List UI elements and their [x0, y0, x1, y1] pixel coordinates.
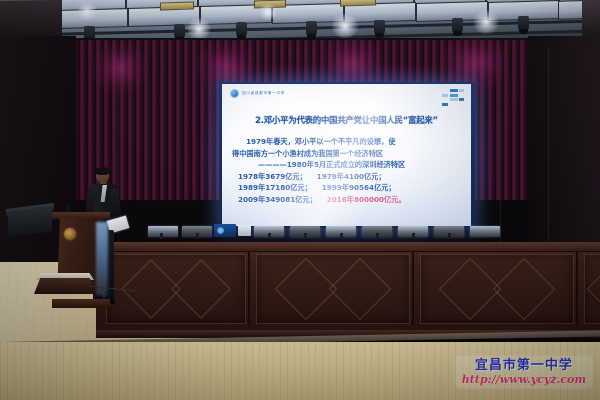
school-logo-icon	[230, 89, 239, 98]
slide-logo-text: 四川省成都市第一中学	[242, 91, 285, 96]
watermark-school: 宜昌市第一中学	[462, 358, 586, 373]
auditorium-photo: 四川省成都市第一中学 2.邓小平为代表的中国共产党让中国人民“富起来” 1979…	[0, 0, 600, 400]
equipment-panel	[238, 225, 251, 236]
podium-reading-light	[96, 222, 108, 296]
slide-data-left: 2009年349081亿元；	[238, 194, 317, 206]
watermark-url: http://www.ycyz.com	[462, 373, 586, 386]
projection-screen: 四川省成都市第一中学 2.邓小平为代表的中国共产党让中国人民“富起来” 1979…	[222, 84, 471, 226]
slide-data-right: 1979年4100亿元；	[317, 171, 386, 183]
slide-data-right-highlight: 2016年800000亿元。	[327, 194, 406, 206]
slide-title: 2.邓小平为代表的中国共产党让中国人民“富起来”	[222, 114, 471, 126]
slide-body-line: 1979年春天，邓小平以一个不平凡的设想，使	[232, 136, 461, 148]
stage-spotlight	[452, 18, 463, 33]
ceiling-light-fixture	[160, 1, 194, 10]
stage-front-panels	[96, 242, 600, 338]
stage-spotlight	[374, 20, 385, 35]
equipment-monitor	[214, 224, 236, 237]
stage-spotlight	[236, 22, 247, 37]
wood-panel	[420, 254, 574, 324]
floor-equipment	[34, 278, 96, 294]
slide-school-logo: 四川省成都市第一中学	[230, 89, 285, 98]
slide-body: 1979年春天，邓小平以一个不平凡的设想，使 得中国南方一个小渔村成为我国第一个…	[232, 136, 461, 205]
presenter-hair	[95, 167, 110, 175]
wood-panel	[584, 254, 600, 324]
right-side-wall	[528, 36, 600, 266]
side-table	[8, 208, 52, 237]
slide-corner-decoration	[442, 89, 464, 106]
ceiling-light-fixture	[254, 0, 286, 9]
stage-spotlight	[306, 21, 317, 36]
slide-data-row: 1989年17180亿元； 1999年90564亿元；	[232, 182, 461, 194]
slide-data-left: 1978年3679亿元；	[238, 171, 307, 183]
slide-data-right: 1999年90564亿元；	[322, 182, 396, 194]
stage-spotlight	[174, 24, 185, 39]
slide-data-row: 1978年3679亿元； 1979年4100亿元；	[232, 171, 461, 183]
slide-data-left: 1989年17180亿元；	[238, 182, 312, 194]
front-seat-row	[148, 226, 508, 239]
stage-spotlight	[518, 16, 529, 31]
slide-data-row: 2009年349081亿元； 2016年800000亿元。	[232, 194, 461, 206]
wood-panel	[256, 254, 410, 324]
school-emblem-icon	[64, 228, 76, 240]
slide-body-line: 得中国南方一个小渔村成为我国第一个经济特区	[232, 148, 461, 160]
watermark: 宜昌市第一中学 http://www.ycyz.com	[456, 356, 592, 388]
slide-body-line: ————1980年5月正式成立的深圳经济特区	[232, 159, 461, 171]
